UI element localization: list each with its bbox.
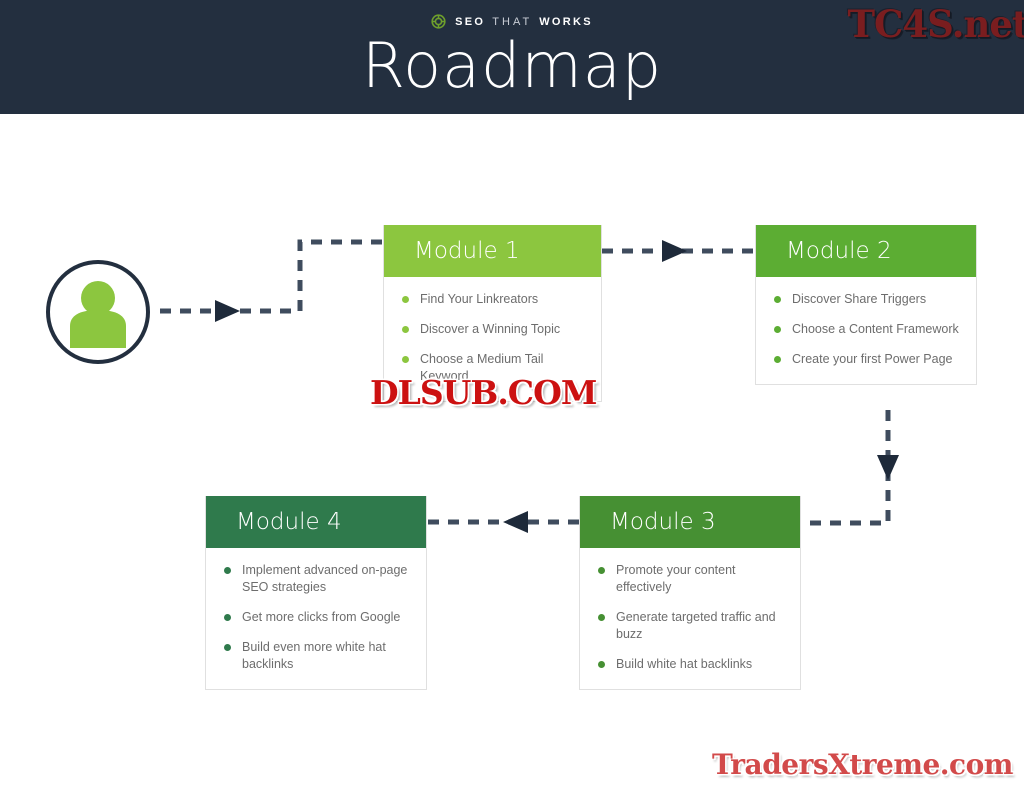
bullet-dot-icon	[598, 661, 605, 668]
list-item-label: Promote your content effectively	[616, 563, 736, 594]
module-card-4[interactable]: Module 4 Implement advanced on-page SEO …	[205, 496, 427, 690]
module-card-2[interactable]: Module 2 Discover Share Triggers Choose …	[755, 225, 977, 385]
seo-circle-icon	[431, 14, 446, 29]
list-item-label: Create your first Power Page	[792, 352, 953, 366]
list-item-label: Discover Share Triggers	[792, 292, 926, 306]
list-item: Discover a Winning Topic	[402, 321, 585, 338]
list-item-label: Get more clicks from Google	[242, 610, 400, 624]
module-2-list: Discover Share Triggers Choose a Content…	[756, 277, 976, 384]
bullet-dot-icon	[224, 644, 231, 651]
list-item: Discover Share Triggers	[774, 291, 960, 308]
arrowhead-left-1	[503, 511, 528, 533]
module-4-title: Module 4	[206, 496, 426, 548]
list-item: Build white hat backlinks	[598, 656, 784, 673]
watermark-bottom-right: TradersXtreme.com	[712, 748, 1013, 781]
module-3-title: Module 3	[580, 496, 800, 548]
list-item: Build even more white hat backlinks	[224, 639, 410, 673]
arrowhead-right-2	[662, 240, 687, 262]
bullet-dot-icon	[774, 326, 781, 333]
list-item: Generate targeted traffic and buzz	[598, 609, 784, 643]
list-item-label: Discover a Winning Topic	[420, 322, 560, 336]
list-item: Find Your Linkreators	[402, 291, 585, 308]
bullet-dot-icon	[224, 614, 231, 621]
bullet-dot-icon	[774, 356, 781, 363]
bullet-dot-icon	[402, 356, 409, 363]
bullet-dot-icon	[598, 614, 605, 621]
module-3-list: Promote your content effectively Generat…	[580, 548, 800, 689]
module-2-title: Module 2	[756, 225, 976, 277]
watermark-center: DLSUB.COM	[370, 373, 596, 412]
list-item: Get more clicks from Google	[224, 609, 410, 626]
list-item: Choose a Content Framework	[774, 321, 960, 338]
person-icon	[50, 264, 146, 360]
list-item: Implement advanced on-page SEO strategie…	[224, 562, 410, 596]
watermark-top-right: TC4S.net	[847, 2, 1024, 46]
list-item-label: Build even more white hat backlinks	[242, 640, 386, 671]
brand-word-that: THAT	[492, 16, 532, 28]
bullet-dot-icon	[402, 326, 409, 333]
list-item-label: Implement advanced on-page SEO strategie…	[242, 563, 407, 594]
avatar	[46, 260, 150, 364]
list-item-label: Build white hat backlinks	[616, 657, 752, 671]
module-4-list: Implement advanced on-page SEO strategie…	[206, 548, 426, 689]
list-item: Create your first Power Page	[774, 351, 960, 368]
arrowhead-right-1	[215, 300, 240, 322]
arrowhead-down-1	[877, 455, 899, 480]
bullet-dot-icon	[224, 567, 231, 574]
list-item: Promote your content effectively	[598, 562, 784, 596]
module-1-title: Module 1	[384, 225, 601, 277]
bullet-dot-icon	[774, 296, 781, 303]
list-item-label: Find Your Linkreators	[420, 292, 538, 306]
list-item-label: Choose a Content Framework	[792, 322, 959, 336]
bullet-dot-icon	[402, 296, 409, 303]
brand-word-seo: SEO	[455, 16, 485, 28]
list-item-label: Generate targeted traffic and buzz	[616, 610, 776, 641]
module-card-3[interactable]: Module 3 Promote your content effectivel…	[579, 496, 801, 690]
brand-word-works: WORKS	[539, 16, 593, 28]
bullet-dot-icon	[598, 567, 605, 574]
